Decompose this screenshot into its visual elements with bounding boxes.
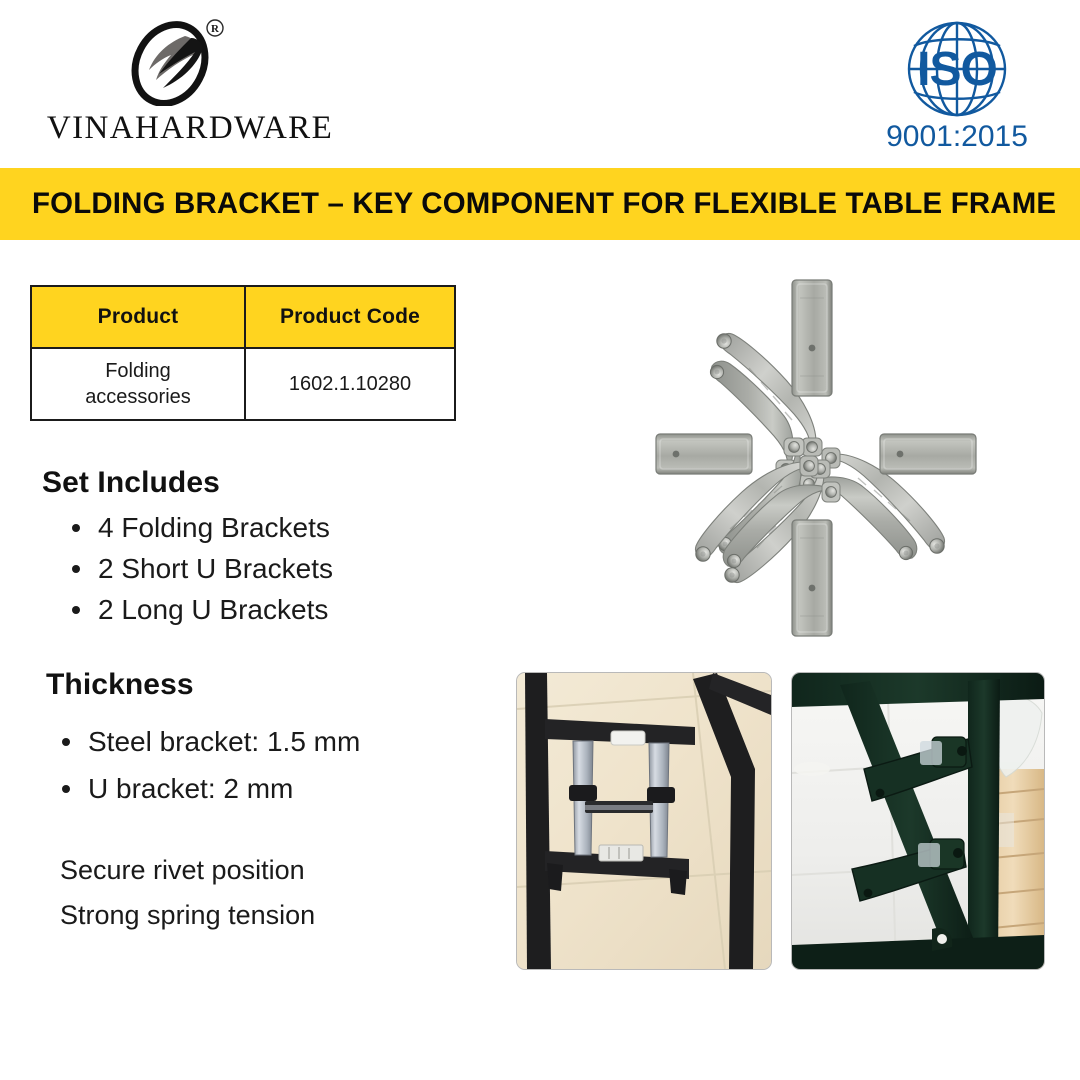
table-row: Folding accessories 1602.1.10280 [31,348,455,420]
brand-wordmark: VINAHARDWARE [40,110,340,147]
svg-text:R: R [211,23,220,35]
vinahardware-swoosh-logo-icon: R [125,18,225,106]
thickness-list: Steel bracket: 1.5 mm U bracket: 2 mm [52,718,360,812]
cell-product-name: Folding accessories [31,348,245,420]
set-includes-heading: Set Includes [42,466,220,500]
cell-product-name-line1: Folding [105,360,171,382]
list-item: U bracket: 2 mm [52,765,360,812]
iso-label: ISO [892,48,1022,92]
folding-bracket-set-photo [600,262,1040,652]
set-includes-list: 4 Folding Brackets 2 Short U Brackets 2 … [62,507,333,630]
table-frame-underside-photo [516,672,772,970]
header: R VINAHARDWARE ISO 9001:2015 [0,0,1080,168]
feature-note-spring: Strong spring tension [60,893,315,938]
list-item: 4 Folding Brackets [62,507,333,548]
table-frame-underside-illustration [517,673,771,969]
table-frame-closeup-photo [791,672,1045,970]
feature-note-rivet: Secure rivet position [60,848,315,893]
table-header-row: Product Product Code [31,286,455,348]
page-title: FOLDING BRACKET – KEY COMPONENT FOR FLEX… [32,187,1056,221]
product-table: Product Product Code Folding accessories… [30,285,456,421]
cell-product-code: 1602.1.10280 [245,348,455,420]
iso-standard-number: 9001:2015 [872,120,1042,154]
table-frame-closeup-illustration [792,673,1044,969]
infographic-page: R VINAHARDWARE ISO 9001:2015 FOLDING [0,0,1080,1080]
thickness-heading: Thickness [46,668,194,702]
cell-product-name-line2: accessories [85,386,191,408]
hero-product-illustration [600,262,1040,652]
list-item: 2 Short U Brackets [62,548,333,589]
iso-certification-badge: ISO 9001:2015 [872,20,1042,152]
brand-logo: R VINAHARDWARE [40,18,340,148]
feature-notes: Secure rivet position Strong spring tens… [60,848,315,938]
column-header-product-code: Product Code [245,286,455,348]
column-header-product: Product [31,286,245,348]
list-item: Steel bracket: 1.5 mm [52,718,360,765]
title-banner: FOLDING BRACKET – KEY COMPONENT FOR FLEX… [0,168,1080,240]
list-item: 2 Long U Brackets [62,589,333,630]
